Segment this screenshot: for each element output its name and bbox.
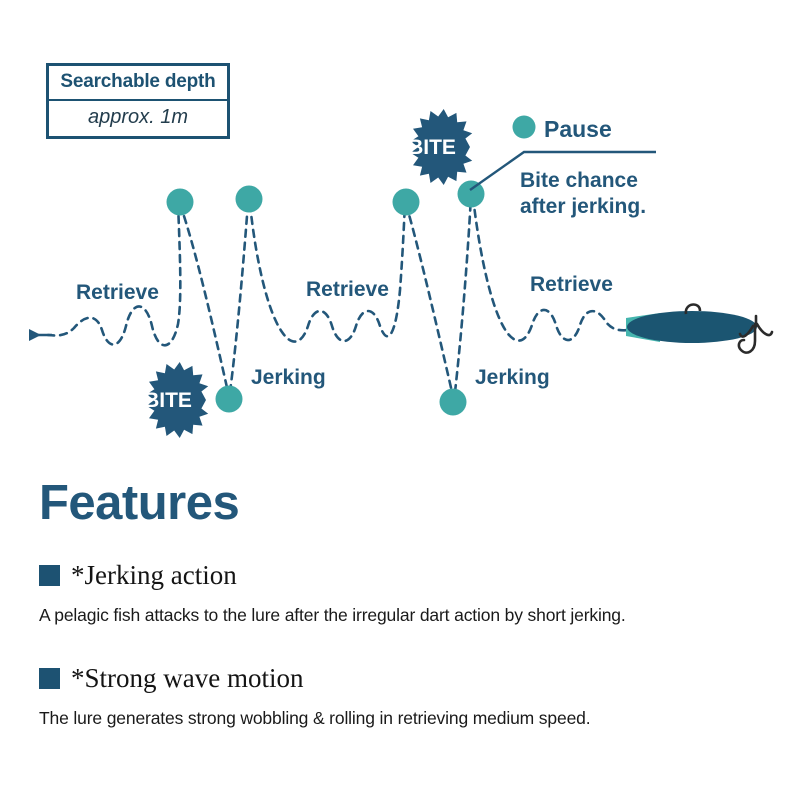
- jerk-stroke-2-up: [455, 196, 471, 392]
- retrieve-label-2: Retrieve: [306, 278, 389, 301]
- lure-body: [627, 311, 757, 343]
- feature-title: *Jerking action: [71, 562, 237, 589]
- jerk-stroke-2-down: [406, 204, 452, 392]
- searchable-depth-box: Searchable depth approx. 1m: [46, 63, 230, 139]
- square-bullet-icon: [39, 565, 60, 586]
- jerking-label-2: Jerking: [475, 366, 550, 389]
- jerking-label-1: Jerking: [251, 366, 326, 389]
- searchable-depth-title: Searchable depth: [49, 66, 227, 101]
- feature-heading-row: *Strong wave motion: [39, 663, 769, 693]
- retrieve-wave-2: [250, 204, 405, 342]
- bite-chance-line-2: after jerking.: [520, 195, 646, 218]
- pause-callout: Pause Bite chance after jerking.: [470, 116, 656, 219]
- pause-dot: [513, 116, 536, 139]
- feature-description: The lure generates strong wobbling & rol…: [39, 707, 769, 730]
- action-dot-valley-1: [216, 386, 243, 413]
- action-dot-peak-3: [393, 189, 420, 216]
- action-dot-peak-2: [236, 186, 263, 213]
- retrieve-label-3: Retrieve: [530, 273, 613, 296]
- retrieve-wave-1: [48, 203, 180, 345]
- lure-graphic: [626, 305, 772, 353]
- bite-badge-lower: BITE: [144, 362, 208, 438]
- action-dot-peak-4: [458, 181, 485, 208]
- feature-title: *Strong wave motion: [71, 665, 303, 692]
- action-dot-valley-2: [440, 389, 467, 416]
- retrieve-wave-3: [473, 197, 628, 341]
- feature-item-strong-wave-motion: *Strong wave motion The lure generates s…: [39, 663, 769, 730]
- feature-heading-row: *Jerking action: [39, 560, 769, 590]
- searchable-depth-value: approx. 1m: [49, 101, 227, 136]
- bite-chance-line-1: Bite chance: [520, 169, 638, 192]
- jerk-stroke-1-down: [180, 204, 228, 392]
- retrieve-label-1: Retrieve: [76, 281, 159, 304]
- features-heading: Features: [39, 479, 239, 528]
- bite-badge-lower-label: BITE: [144, 389, 192, 412]
- bite-badge-upper: BITE: [408, 109, 472, 185]
- feature-description: A pelagic fish attacks to the lure after…: [39, 604, 769, 627]
- infographic-root: BITE BITE Pause Bite chance after jerkin…: [0, 0, 800, 800]
- pause-label: Pause: [544, 116, 612, 142]
- feature-item-jerking-action: *Jerking action A pelagic fish attacks t…: [39, 560, 769, 627]
- square-bullet-icon: [39, 668, 60, 689]
- action-dot-peak-1: [167, 189, 194, 216]
- bite-badge-upper-label: BITE: [408, 136, 456, 159]
- jerk-stroke-1-up: [230, 203, 248, 392]
